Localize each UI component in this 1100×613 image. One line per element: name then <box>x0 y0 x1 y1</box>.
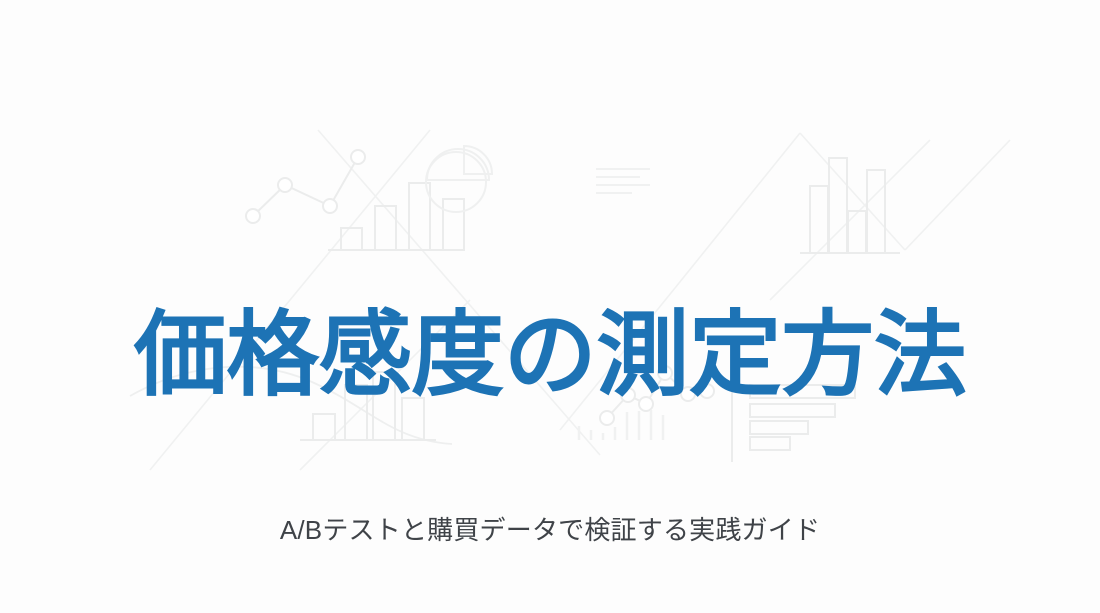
page-subtitle: A/Bテストと購買データで検証する実践ガイド <box>0 513 1100 548</box>
slide-content: 価格感度の測定方法 A/Bテストと購買データで検証する実践ガイド <box>0 0 1100 613</box>
title-slide: 価格感度の測定方法 A/Bテストと購買データで検証する実践ガイド <box>0 0 1100 613</box>
page-title: 価格感度の測定方法 <box>0 305 1100 405</box>
